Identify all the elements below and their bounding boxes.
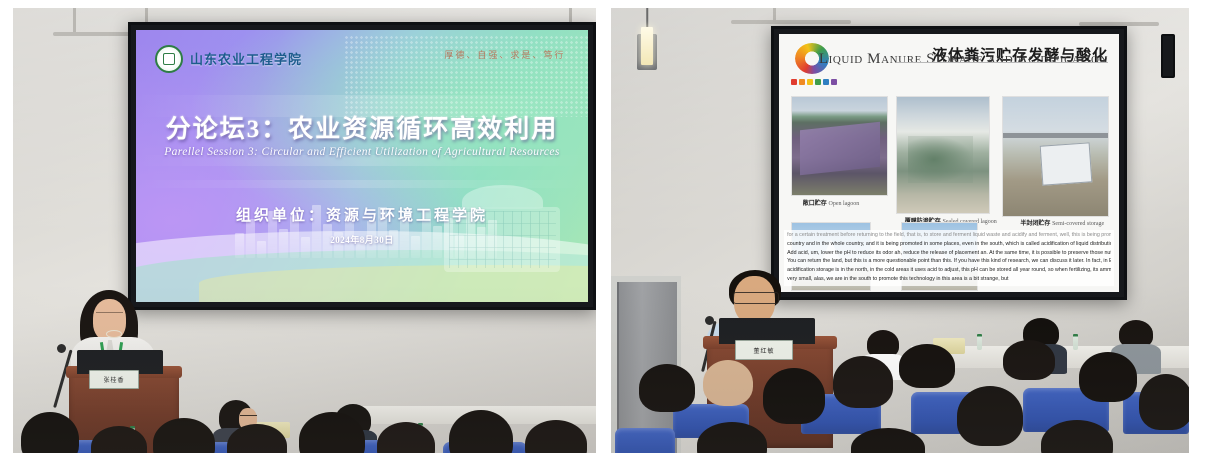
ceiling-drop-rod [773,8,776,22]
caption-line: country and in the whole country, and it… [787,241,1111,249]
caption-line: very small, alas, we are in the south to… [787,276,1111,284]
projection-screen: 山东农业工程学院 厚德、自强、求是、笃行 分论坛3：农业资源循环高效利用 Par… [128,22,596,310]
caption-line: Add acid, um, lower the pH to reduce its… [787,250,1111,258]
projection-screen-surface: 山东农业工程学院 厚德、自强、求是、笃行 分论坛3：农业资源循环高效利用 Par… [136,30,588,302]
slide-motto: 厚德、自强、求是、笃行 [444,48,565,61]
slide-right: 液体粪污贮存发酵与酸化 Liquid Manure Storage and Ac… [779,34,1119,292]
slide-organizer: 组织单位：资源与环境工程学院 [136,204,588,225]
pendant-light [637,8,657,70]
live-caption-overlay: for a certain treatment before returning… [784,230,1114,286]
slide-photo-caption: 敞口贮存 Open lagoon [803,198,860,207]
caption-line: acidification storage is in the north, i… [787,267,1111,275]
slide-photo-open-lagoon [791,96,888,196]
slide-title-en: Parellel Session 3: Circular and Efficie… [136,146,588,158]
photo-right-panel: 液体粪污贮存发酵与酸化 Liquid Manure Storage and Ac… [611,8,1189,453]
slide-university-logo: 山东农业工程学院 [155,45,302,73]
slide-photo-sealed-lagoon [896,96,990,214]
slide-left: 山东农业工程学院 厚德、自强、求是、笃行 分论坛3：农业资源循环高效利用 Par… [136,30,588,302]
university-name: 山东农业工程学院 [190,49,302,68]
slide-date: 2024年8月30日 [136,233,588,246]
two-panel-photo-page: 山东农业工程学院 厚德、自强、求是、笃行 分论坛3：农业资源循环高效利用 Par… [0,0,1210,457]
slide-header: 液体粪污贮存发酵与酸化 Liquid Manure Storage and Ac… [779,40,1119,89]
slide-photo-caption: 半封闭贮存 Semi-covered storage [1020,218,1104,227]
slide-title-cn: 分论坛3：农业资源循环高效利用 [136,109,588,145]
logo-chip-row [791,79,837,85]
wall-monitor [1161,34,1175,78]
wall-vignette [13,284,596,453]
slide-title-en: Liquid Manure Storage and Acidification [819,51,1108,68]
projection-screen-surface: 液体粪污贮存发酵与酸化 Liquid Manure Storage and Ac… [779,34,1119,292]
university-seal-icon [155,45,183,73]
caption-line: for a certain treatment before returning… [787,232,1111,240]
slide-building-graphic [439,185,566,277]
ceiling-drop-rod [73,8,76,34]
ceiling-rail [731,20,851,24]
projection-screen: 液体粪污贮存发酵与酸化 Liquid Manure Storage and Ac… [771,26,1127,300]
slide-title-rule [897,62,1108,63]
photo-left-panel: 山东农业工程学院 厚德、自强、求是、笃行 分论坛3：农业资源循环高效利用 Par… [13,8,596,453]
caption-line: You can return the land, but this is a m… [787,258,1111,266]
wall-vignette [611,284,1189,453]
slide-photo-semi-covered [1002,96,1109,217]
